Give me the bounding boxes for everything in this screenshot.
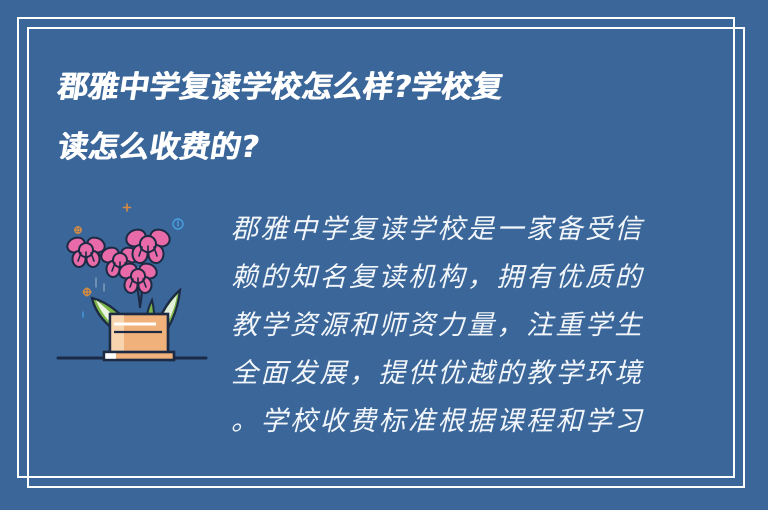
article-card: 郡雅中学复读学校怎么样?学校复 读怎么收费的? [0,0,768,510]
orchid-blossoms [65,227,173,293]
page-title: 郡雅中学复读学校怎么样?学校复 读怎么收费的? [53,58,653,178]
body-line-1: 郡雅中学复读学校是一家备受信 [231,206,651,254]
body-line-3: 教学资源和师资力量，注重学生 [231,302,651,350]
article-body: 郡雅中学复读学校是一家备受信 赖的知名复读机构，拥有优质的 教学资源和师资力量，… [231,206,651,446]
body-line-5: 。学校收费标准根据课程和学习 [231,398,651,446]
body-line-4: 全面发展，提供优越的教学环境 [231,350,651,398]
flower-pot [104,314,174,360]
title-line-2: 读怎么收费的? [53,118,663,178]
title-line-1: 郡雅中学复读学校怎么样?学校复 [53,58,663,118]
potted-orchid-illustration [52,192,214,372]
body-line-2: 赖的知名复读机构，拥有优质的 [231,254,651,302]
